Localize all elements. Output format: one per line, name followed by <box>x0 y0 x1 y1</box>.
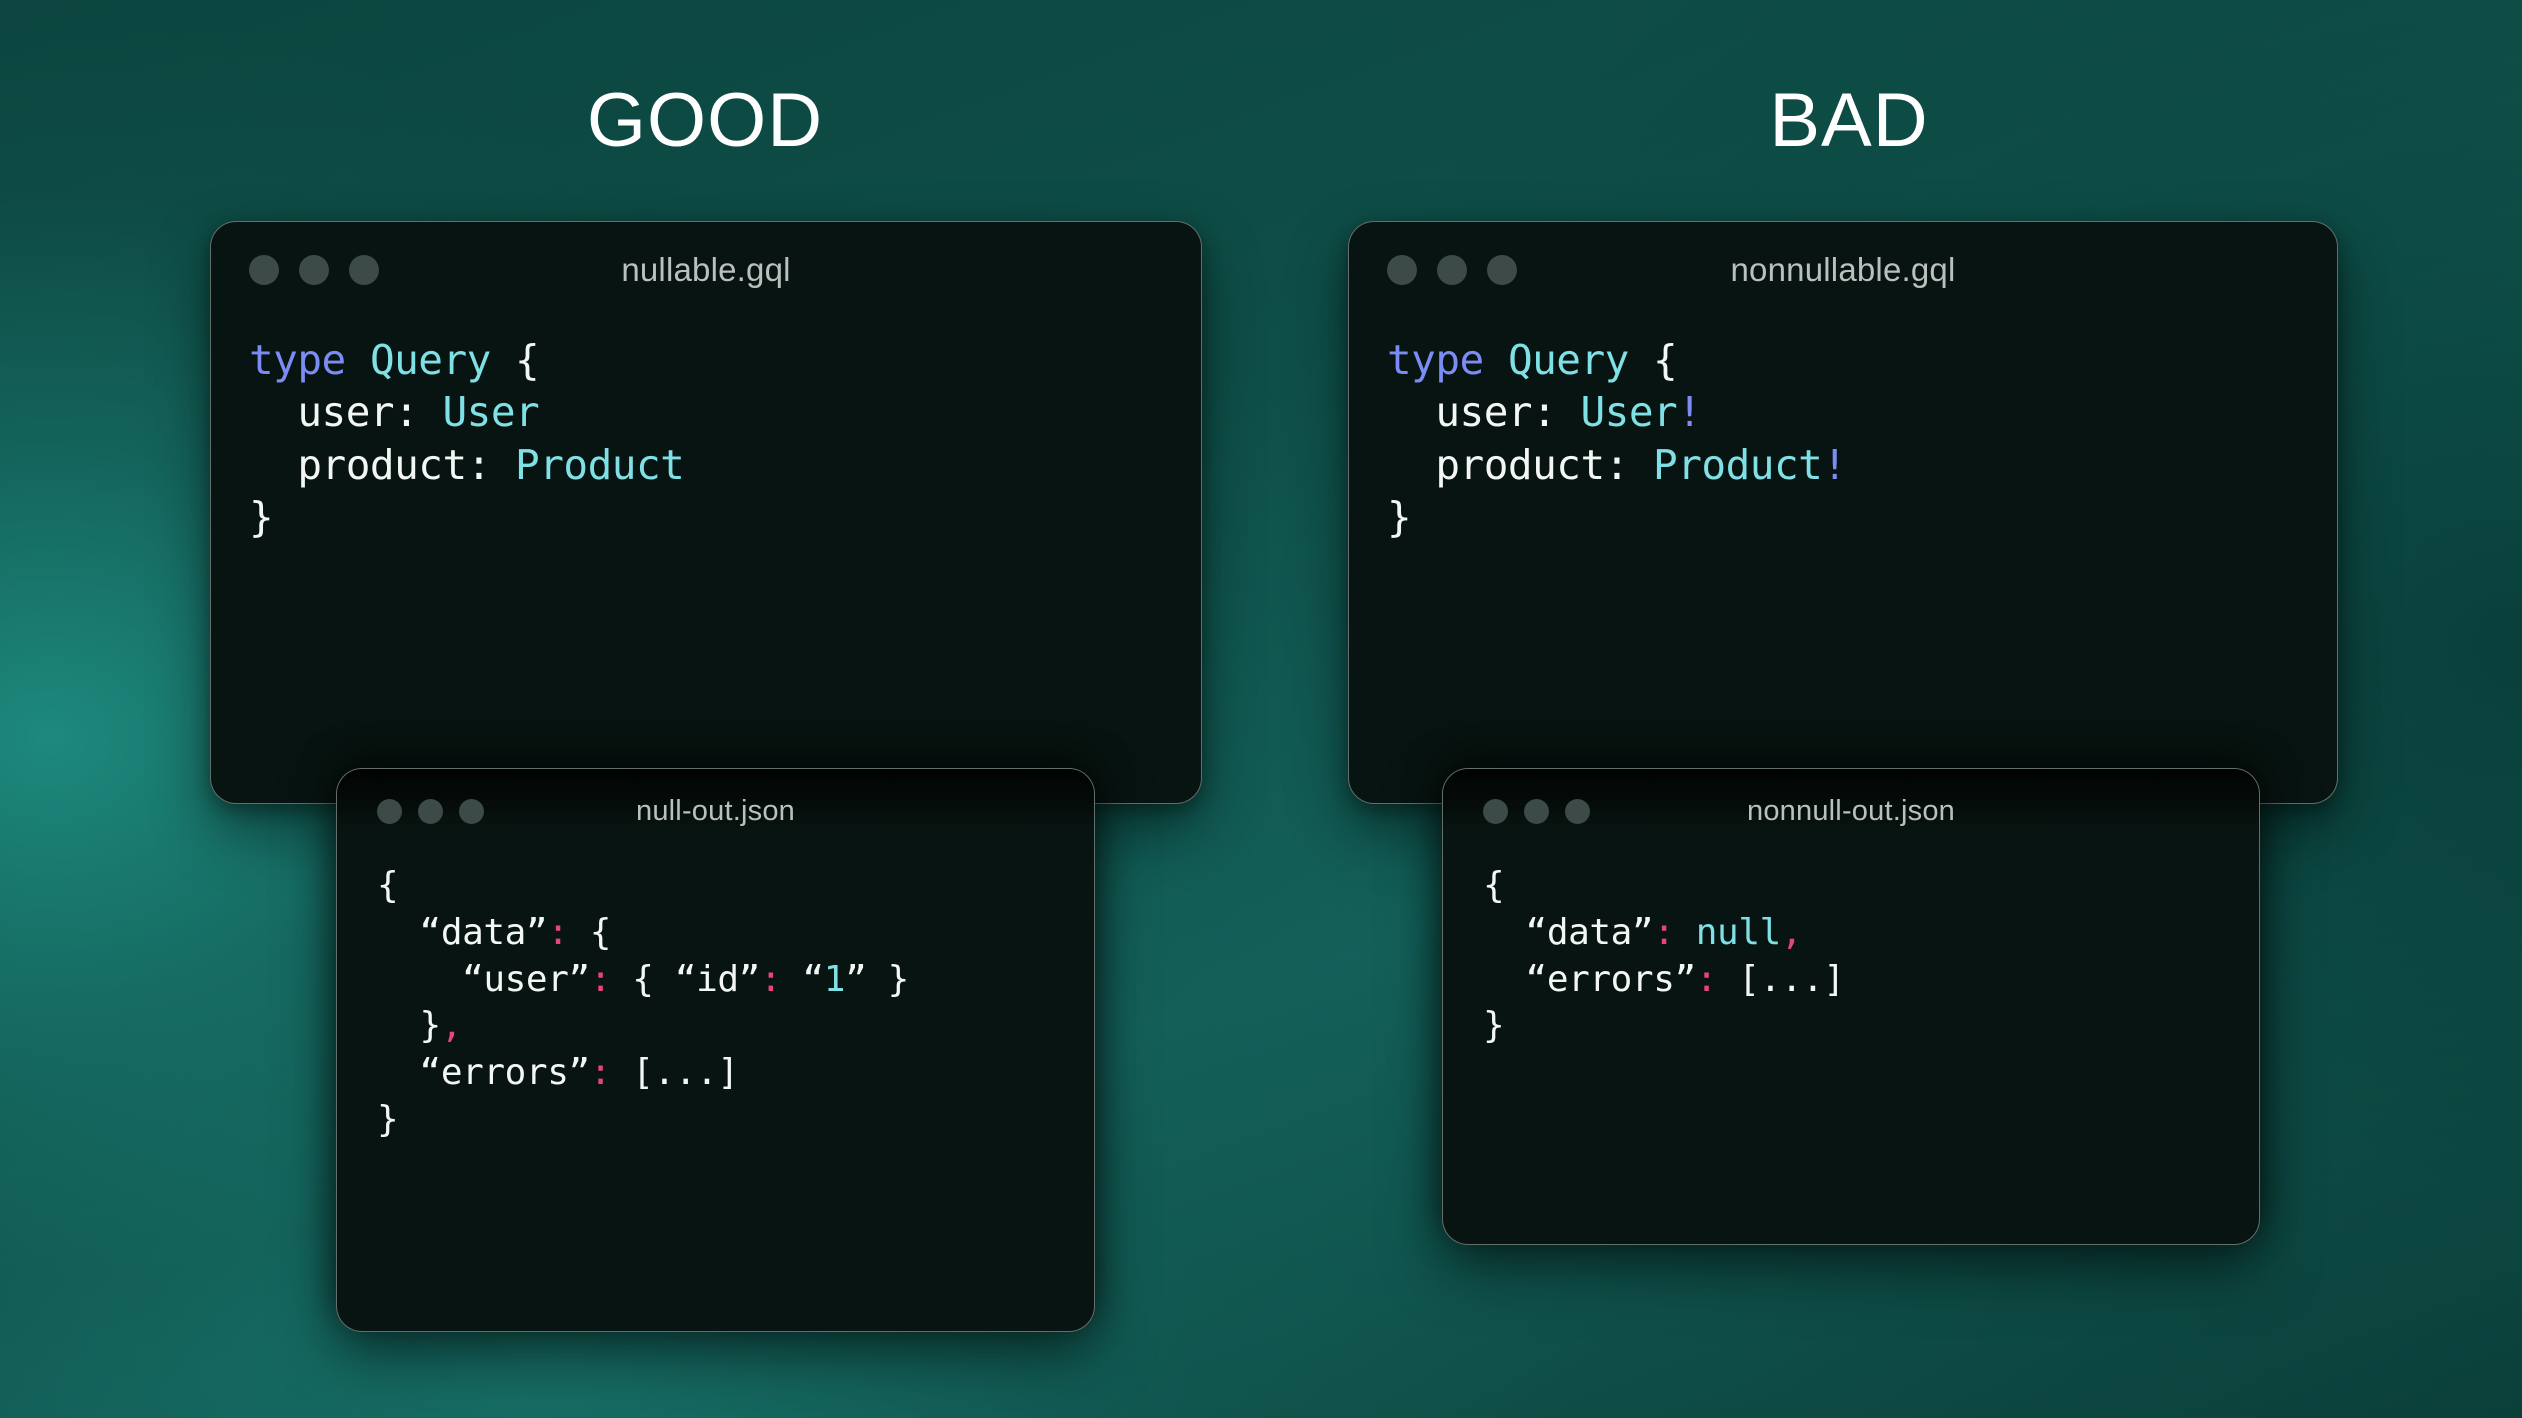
code-token: : <box>760 959 781 1000</box>
dot-grey-3-icon[interactable] <box>349 255 379 285</box>
traffic-lights-good-output <box>377 799 484 824</box>
code-token: : <box>1696 959 1717 1000</box>
code-token: product: <box>1387 441 1653 489</box>
code-block-good-schema: type Query { user: User product: Product… <box>211 318 1201 544</box>
code-token: } <box>249 493 273 541</box>
code-token: User <box>442 388 539 436</box>
code-token: ! <box>1822 441 1846 489</box>
code-token: , <box>1781 912 1802 953</box>
code-token: [...] <box>1717 959 1845 1000</box>
dot-grey-2-icon[interactable] <box>299 255 329 285</box>
code-token: type <box>1387 336 1484 384</box>
dot-grey-1-icon[interactable] <box>249 255 279 285</box>
dot-grey-2-icon[interactable] <box>1524 799 1549 824</box>
code-token: ! <box>1677 388 1701 436</box>
code-line: } <box>249 491 1201 543</box>
code-token: { <box>568 912 611 953</box>
dot-grey-3-icon[interactable] <box>459 799 484 824</box>
code-token: { <box>377 865 398 906</box>
code-block-good-output: { “data”: { “user”: { “id”: “1” } }, “er… <box>337 853 1094 1144</box>
code-token: Product <box>1653 441 1822 489</box>
code-token: user: <box>249 388 442 436</box>
code-line: user: User! <box>1387 386 2337 438</box>
code-line: “data”: null, <box>1483 910 2259 957</box>
code-token: “data” <box>1483 912 1653 953</box>
code-token <box>1674 912 1695 953</box>
heading-bad: BAD <box>1769 83 1928 159</box>
code-block-bad-output: { “data”: null, “errors”: [...]} <box>1443 853 2259 1050</box>
code-token: } <box>1387 493 1411 541</box>
code-token: { <box>1629 336 1677 384</box>
code-token: type <box>249 336 346 384</box>
code-token: “errors” <box>377 1052 590 1093</box>
code-line: “user”: { “id”: “1” } <box>377 957 1094 1004</box>
code-line: }, <box>377 1003 1094 1050</box>
window-good-output[interactable]: null-out.json{ “data”: { “user”: { “id”:… <box>336 768 1095 1332</box>
dot-grey-1-icon[interactable] <box>1387 255 1417 285</box>
window-good-schema[interactable]: nullable.gqltype Query { user: User prod… <box>210 221 1202 804</box>
code-token: product: <box>249 441 515 489</box>
code-token: { <box>1483 865 1504 906</box>
dot-grey-1-icon[interactable] <box>377 799 402 824</box>
code-token: “errors” <box>1483 959 1696 1000</box>
code-token: user: <box>1387 388 1580 436</box>
titlebar-good-output: null-out.json <box>337 769 1094 853</box>
code-token: : <box>590 1052 611 1093</box>
code-line: type Query { <box>249 334 1201 386</box>
code-token: User <box>1580 388 1677 436</box>
code-token: } <box>377 1099 398 1140</box>
code-token: ” } <box>845 959 909 1000</box>
code-line: } <box>1387 491 2337 543</box>
dot-grey-3-icon[interactable] <box>1565 799 1590 824</box>
code-line: } <box>377 1097 1094 1144</box>
code-token: “data” <box>377 912 547 953</box>
code-line: product: Product! <box>1387 439 2337 491</box>
code-token: “ <box>781 959 824 1000</box>
titlebar-bad-output: nonnull-out.json <box>1443 769 2259 853</box>
dot-grey-2-icon[interactable] <box>418 799 443 824</box>
code-token: } <box>1483 1005 1504 1046</box>
code-line: type Query { <box>1387 334 2337 386</box>
code-token: null <box>1696 912 1781 953</box>
traffic-lights-good-schema <box>249 255 379 285</box>
code-line: product: Product <box>249 439 1201 491</box>
heading-good: GOOD <box>587 83 823 159</box>
code-line: “errors”: [...] <box>1483 957 2259 1004</box>
code-line: } <box>1483 1003 2259 1050</box>
code-token: Query <box>1508 336 1629 384</box>
code-token: { <box>491 336 539 384</box>
code-line: { <box>1483 863 2259 910</box>
code-token: , <box>441 1005 462 1046</box>
code-token: Query <box>370 336 491 384</box>
window-bad-output[interactable]: nonnull-out.json{ “data”: null, “errors”… <box>1442 768 2260 1245</box>
code-token: : <box>590 959 611 1000</box>
dot-grey-2-icon[interactable] <box>1437 255 1467 285</box>
code-token: : <box>547 912 568 953</box>
code-token <box>346 336 370 384</box>
code-token: } <box>377 1005 441 1046</box>
traffic-lights-bad-output <box>1483 799 1590 824</box>
code-line: “errors”: [...] <box>377 1050 1094 1097</box>
code-token: { “id” <box>611 959 760 1000</box>
code-token: Product <box>515 441 684 489</box>
code-token: : <box>1653 912 1674 953</box>
code-token: “user” <box>377 959 590 1000</box>
dot-grey-1-icon[interactable] <box>1483 799 1508 824</box>
traffic-lights-bad-schema <box>1387 255 1517 285</box>
code-line: { <box>377 863 1094 910</box>
code-token <box>1484 336 1508 384</box>
dot-grey-3-icon[interactable] <box>1487 255 1517 285</box>
window-bad-schema[interactable]: nonnullable.gqltype Query { user: User! … <box>1348 221 2338 804</box>
code-token: [...] <box>611 1052 739 1093</box>
titlebar-bad-schema: nonnullable.gql <box>1349 222 2337 318</box>
slide-stage: GOODBADnullable.gqltype Query { user: Us… <box>0 0 2522 1418</box>
code-line: “data”: { <box>377 910 1094 957</box>
code-line: user: User <box>249 386 1201 438</box>
code-block-bad-schema: type Query { user: User! product: Produc… <box>1349 318 2337 544</box>
code-token: 1 <box>824 959 845 1000</box>
titlebar-good-schema: nullable.gql <box>211 222 1201 318</box>
